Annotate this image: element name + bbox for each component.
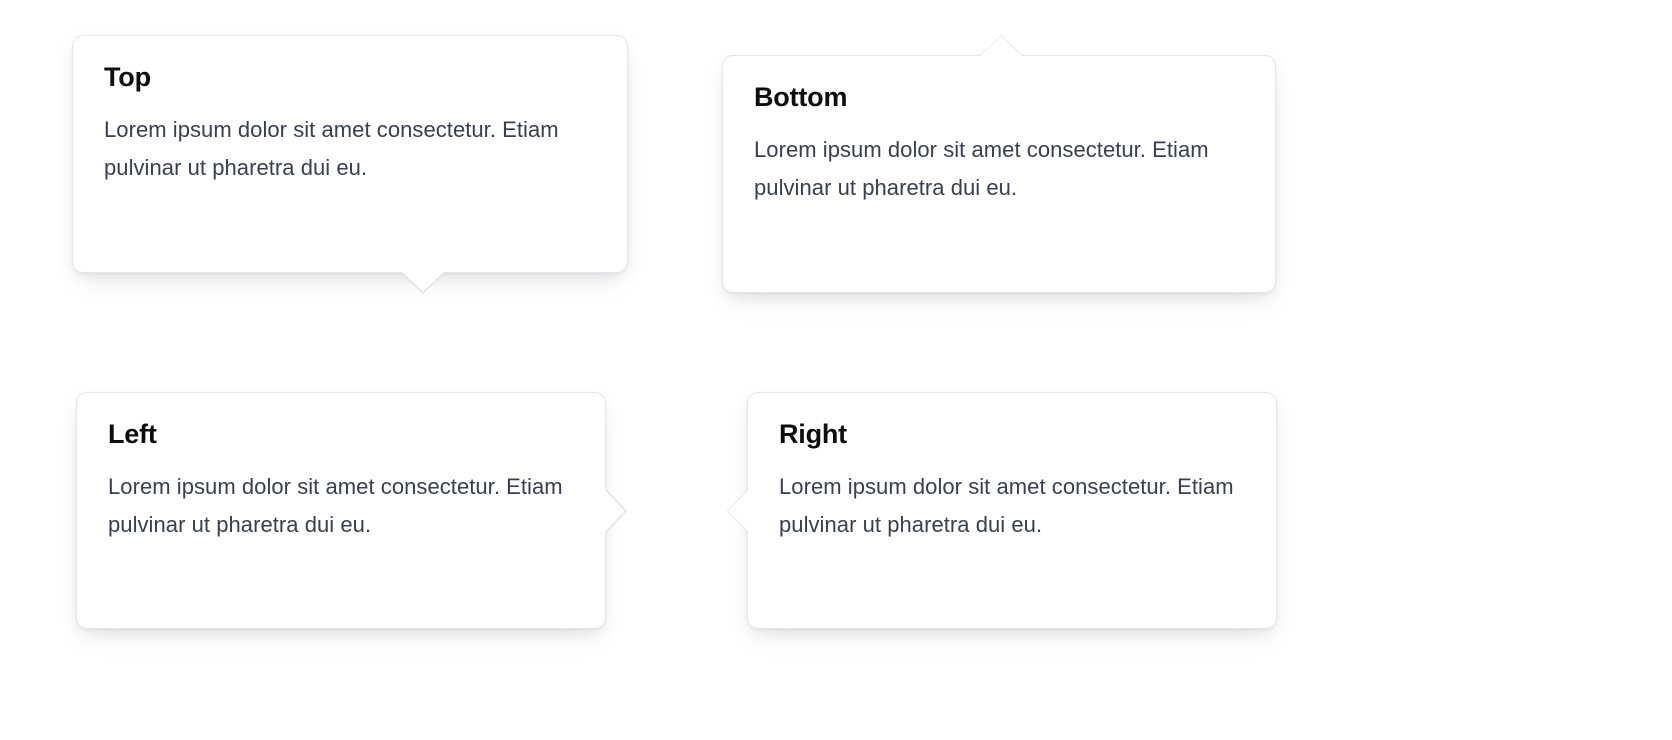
tooltip-body-bottom: Lorem ipsum dolor sit amet consectetur. …	[754, 131, 1245, 207]
tooltip-card-bottom[interactable]: Bottom Lorem ipsum dolor sit amet consec…	[722, 55, 1276, 293]
tooltip-title-left: Left	[108, 419, 575, 450]
tooltip-title-right: Right	[779, 419, 1246, 450]
tooltip-body-top: Lorem ipsum dolor sit amet consectetur. …	[104, 111, 597, 187]
tooltip-arrow-up-icon	[980, 36, 1022, 56]
tooltip-card-right[interactable]: Right Lorem ipsum dolor sit amet consect…	[747, 392, 1277, 629]
tooltip-card-left[interactable]: Left Lorem ipsum dolor sit amet consecte…	[76, 392, 606, 629]
tooltip-arrow-right-icon	[605, 490, 625, 532]
tooltip-title-top: Top	[104, 62, 597, 93]
tooltip-title-bottom: Bottom	[754, 82, 1245, 113]
tooltip-body-right: Lorem ipsum dolor sit amet consectetur. …	[779, 468, 1246, 544]
tooltip-showcase-canvas: Top Lorem ipsum dolor sit amet consectet…	[0, 0, 1672, 740]
tooltip-card-top[interactable]: Top Lorem ipsum dolor sit amet consectet…	[72, 35, 628, 273]
tooltip-arrow-down-icon	[402, 272, 444, 292]
tooltip-body-left: Lorem ipsum dolor sit amet consectetur. …	[108, 468, 575, 544]
tooltip-arrow-left-icon	[728, 490, 748, 532]
